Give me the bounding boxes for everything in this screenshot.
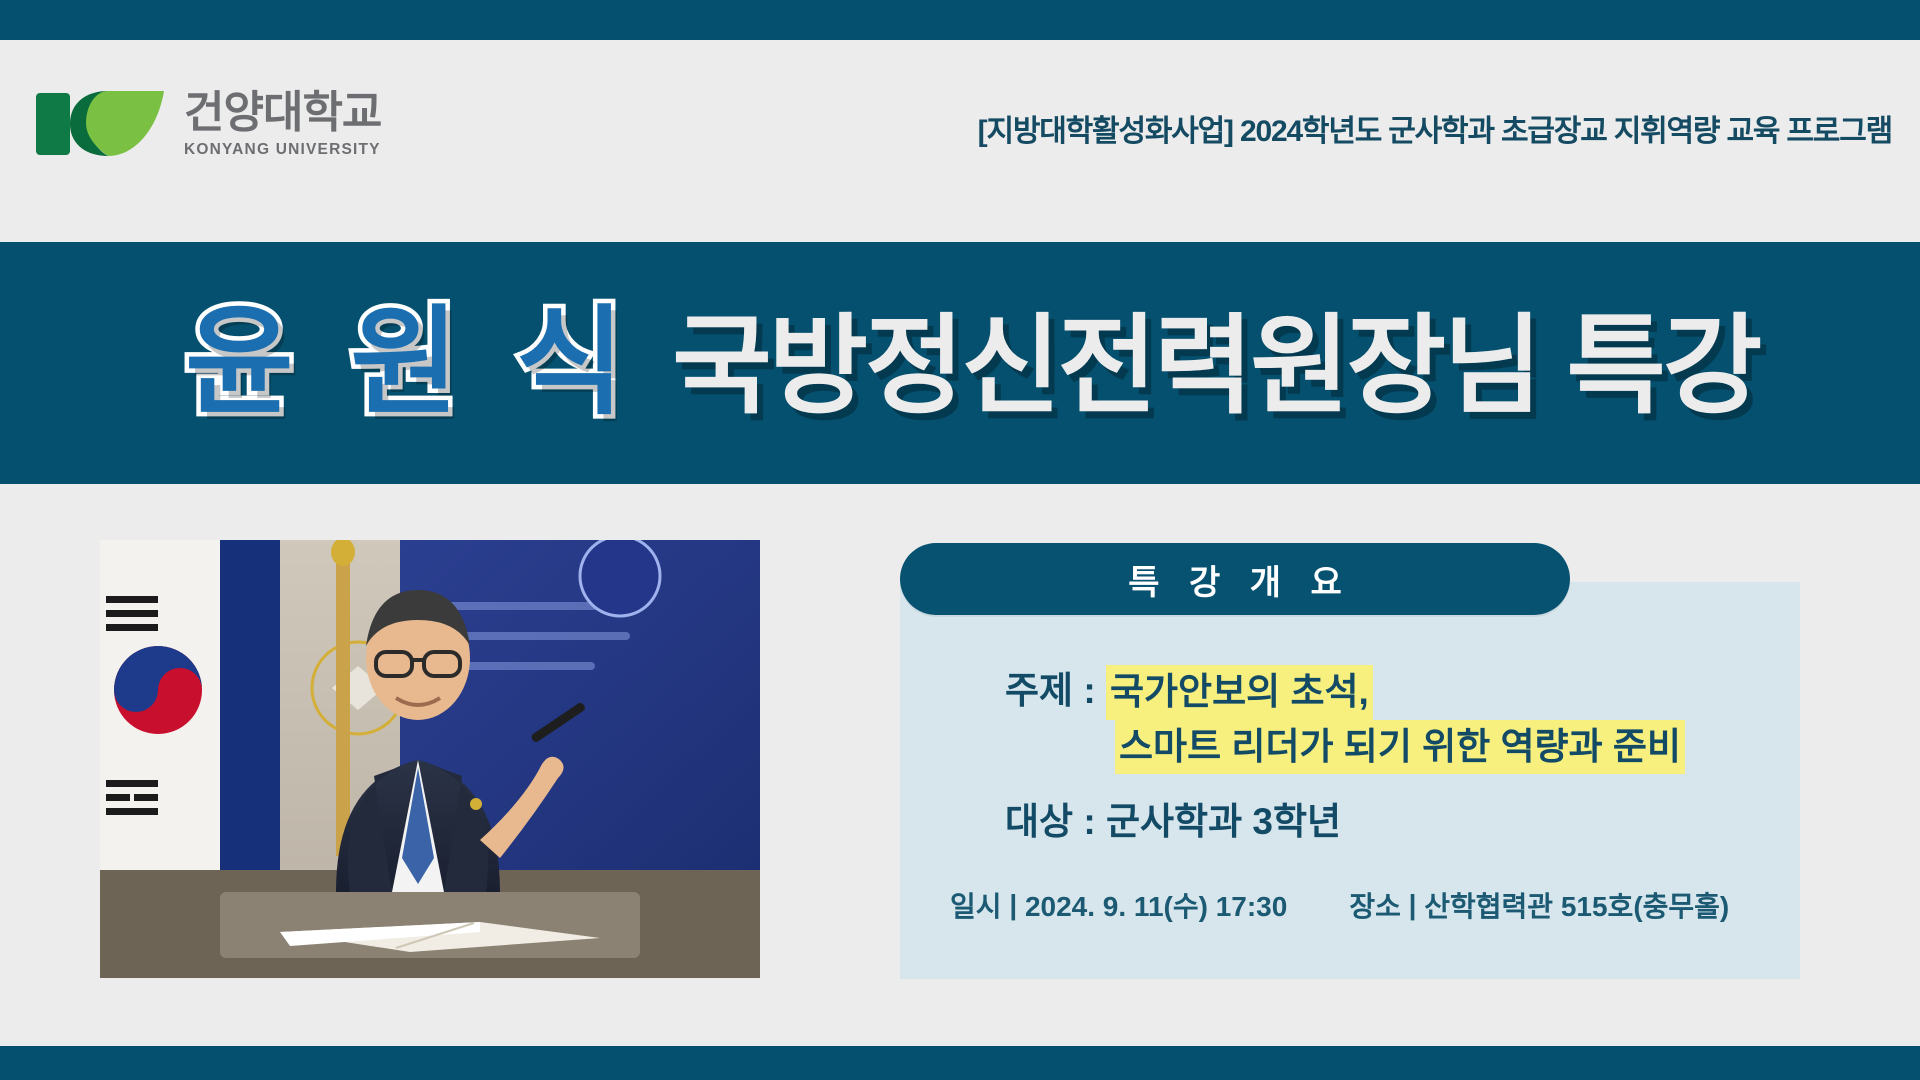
target-value: 군사학과 3학년 bbox=[1106, 796, 1341, 849]
title-banner-inner: 윤 원 식 국방정신전력원장님 특강 bbox=[0, 304, 1759, 422]
target-label: 대상 : bbox=[900, 796, 1096, 849]
lecture-title: 국방정신전력원장님 특강 bbox=[672, 312, 1759, 420]
subject-value-line1: 국가안보의 초석, bbox=[1106, 665, 1373, 720]
university-name-block: 건양대학교 KONYANG UNIVERSITY bbox=[184, 91, 381, 158]
poster-header: 건양대학교 KONYANG UNIVERSITY [지방대학활성화사업] 202… bbox=[0, 40, 1920, 200]
bottom-accent-bar bbox=[0, 1046, 1920, 1080]
university-name-ko: 건양대학교 bbox=[184, 91, 381, 135]
place-separator: | bbox=[1409, 889, 1417, 921]
overview-meta-row: 일시 | 2024. 9. 11(수) 17:30 장소 | 산학협력관 515… bbox=[900, 885, 1800, 925]
university-name-en: KONYANG UNIVERSITY bbox=[184, 142, 381, 158]
university-logo: 건양대학교 KONYANG UNIVERSITY bbox=[36, 85, 381, 163]
subject-label: 주제 : bbox=[900, 665, 1096, 718]
overview-details: 주제 : 국가안보의 초석, 스마트 리더가 되기 위한 역량과 준비 대상 :… bbox=[900, 665, 1800, 849]
subject-line-2: 스마트 리더가 되기 위한 역량과 준비 bbox=[900, 720, 1800, 775]
speaker-name: 윤 원 식 bbox=[185, 304, 636, 422]
top-accent-bar bbox=[0, 0, 1920, 40]
date-value: 2024. 9. 11(수) 17:30 bbox=[1025, 885, 1287, 925]
lecture-poster: 건양대학교 KONYANG UNIVERSITY [지방대학활성화사업] 202… bbox=[0, 0, 1920, 1080]
date-label: 일시 bbox=[900, 885, 1002, 925]
place-value: 산학협력관 515호(충무홀) bbox=[1424, 885, 1729, 925]
subject-value-line2: 스마트 리더가 되기 위한 역량과 준비 bbox=[1115, 720, 1685, 775]
title-banner: 윤 원 식 국방정신전력원장님 특강 bbox=[0, 242, 1920, 484]
overview-badge-label: 특 강 개 요 bbox=[1118, 555, 1351, 604]
speaker-photo bbox=[100, 540, 760, 978]
konyang-k-leaf-logo-icon bbox=[36, 85, 166, 163]
subject-line-1: 주제 : 국가안보의 초석, bbox=[900, 665, 1800, 720]
date-separator: | bbox=[1009, 889, 1017, 921]
overview-badge: 특 강 개 요 bbox=[900, 543, 1570, 615]
target-line: 대상 : 군사학과 3학년 bbox=[900, 796, 1800, 849]
speaker-photo-illustration bbox=[100, 540, 760, 978]
place-label: 장소 bbox=[1287, 885, 1401, 925]
program-title: [지방대학활성화사업] 2024학년도 군사학과 초급장교 지휘역량 교육 프로… bbox=[978, 106, 1892, 150]
